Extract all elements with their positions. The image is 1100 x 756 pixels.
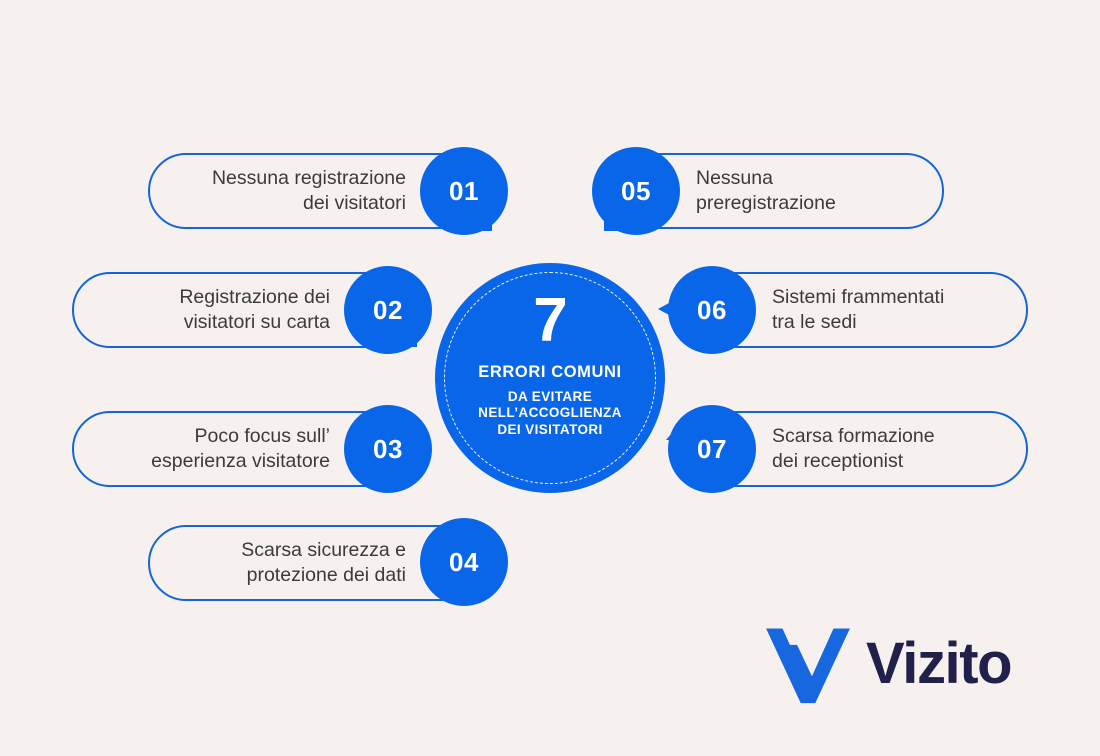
callout-01-number: 01 bbox=[420, 147, 508, 235]
center-badge-subtitle: DA EVITARE NELL’ACCOGLIENZA DEI VISITATO… bbox=[478, 389, 622, 438]
callout-07-label: Scarsa formazione dei receptionist bbox=[772, 424, 1004, 475]
center-badge-title: ERRORI COMUNI bbox=[478, 363, 621, 382]
callout-07-number: 07 bbox=[668, 405, 756, 493]
infographic-canvas: Nessuna registrazione dei visitatori 01 … bbox=[0, 0, 1100, 756]
vizito-logo: Vizito bbox=[762, 618, 1024, 710]
callout-04-number: 04 bbox=[420, 518, 508, 606]
callout-03-number: 03 bbox=[344, 405, 432, 493]
callout-01-label: Nessuna registrazione dei visitatori bbox=[172, 166, 406, 217]
callout-03-label: Poco focus sull’ esperienza visitatore bbox=[96, 424, 330, 475]
callout-06-label: Sistemi frammentati tra le sedi bbox=[772, 285, 1004, 336]
center-badge: 7 ERRORI COMUNI DA EVITARE NELL’ACCOGLIE… bbox=[435, 263, 665, 493]
callout-02-label: Registrazione dei visitatori su carta bbox=[96, 285, 330, 336]
vizito-wordmark: Vizito bbox=[866, 635, 1011, 693]
callout-05-label: Nessuna preregistrazione bbox=[696, 166, 920, 217]
callout-02-number: 02 bbox=[344, 266, 432, 354]
center-badge-number: 7 bbox=[533, 291, 566, 352]
vizito-v-checkmark-icon bbox=[762, 623, 854, 705]
callout-05-number: 05 bbox=[592, 147, 680, 235]
callout-04-label: Scarsa sicurezza e protezione dei dati bbox=[172, 538, 406, 589]
callout-06-number: 06 bbox=[668, 266, 756, 354]
